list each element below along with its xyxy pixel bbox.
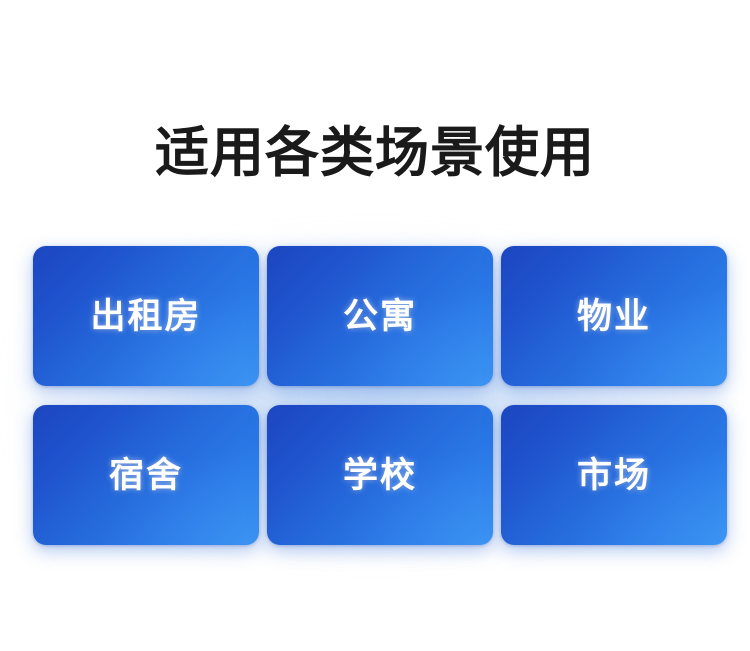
scene-card-label: 市场 — [577, 458, 651, 493]
scene-card-school[interactable]: 学校 — [267, 405, 493, 545]
scene-card-label: 公寓 — [343, 299, 417, 334]
scene-card-label: 宿舍 — [109, 458, 183, 493]
scene-card-dormitory[interactable]: 宿舍 — [33, 405, 259, 545]
page-title: 适用各类场景使用 — [155, 124, 595, 182]
scene-showcase-page: 适用各类场景使用 出租房 公寓 物业 宿舍 学校 市场 — [0, 0, 750, 651]
scene-card-market[interactable]: 市场 — [501, 405, 727, 545]
scene-card-label: 物业 — [577, 299, 651, 334]
scene-card-label: 学校 — [343, 458, 417, 493]
scene-card-rental-house[interactable]: 出租房 — [33, 246, 259, 386]
scene-card-grid: 出租房 公寓 物业 宿舍 学校 市场 — [33, 246, 715, 545]
page-title-container: 适用各类场景使用 — [0, 88, 750, 219]
scene-card-apartment[interactable]: 公寓 — [267, 246, 493, 386]
scene-card-property[interactable]: 物业 — [501, 246, 727, 386]
scene-card-label: 出租房 — [90, 299, 201, 334]
